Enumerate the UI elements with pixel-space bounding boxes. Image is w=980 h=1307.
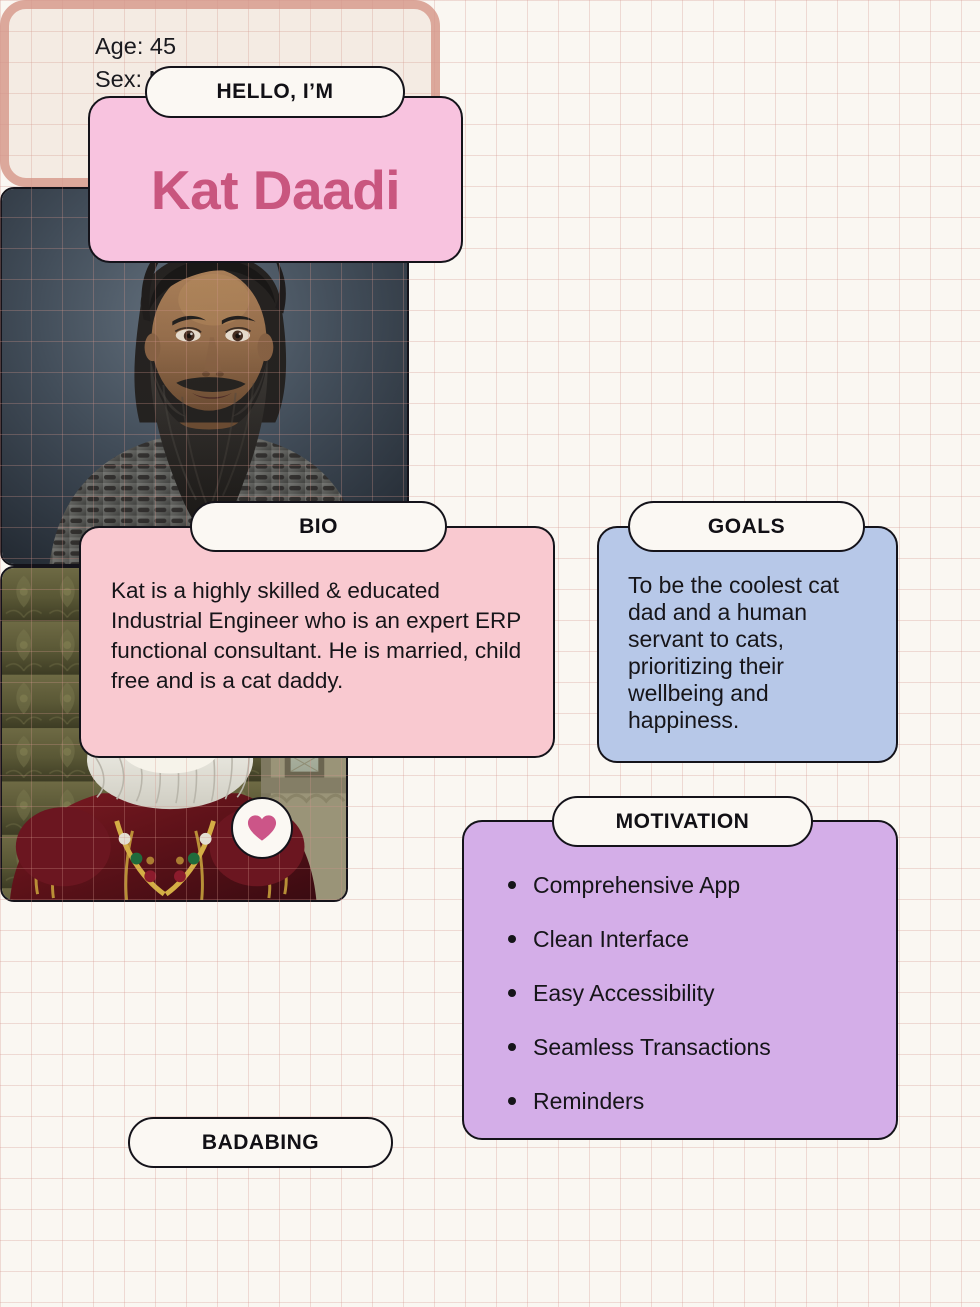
persona-page: Kat Daadi HELLO, I’M Age: 45 Sex: Male O…	[0, 0, 980, 1307]
name-banner-card: Kat Daadi	[88, 96, 463, 263]
badabing-label-pill: BADABING	[128, 1117, 393, 1168]
goals-card: To be the coolest cat dad and a human se…	[597, 526, 898, 763]
bio-card: Kat is a highly skilled & educated Indus…	[79, 526, 555, 758]
bio-text: Kat is a highly skilled & educated Indus…	[81, 528, 553, 696]
hello-label-pill: HELLO, I’M	[145, 66, 405, 118]
motivation-card: Comprehensive App Clean Interface Easy A…	[462, 820, 898, 1140]
list-item: Reminders	[508, 1088, 896, 1114]
badabing-label-text: BADABING	[202, 1131, 319, 1155]
hello-label-text: HELLO, I’M	[217, 80, 334, 104]
motivation-label-text: MOTIVATION	[616, 810, 750, 834]
bio-label-pill: BIO	[190, 501, 447, 552]
goals-label-text: GOALS	[708, 515, 785, 539]
goals-label-pill: GOALS	[628, 501, 865, 552]
info-line-age: Age: 45	[95, 30, 431, 63]
motivation-list: Comprehensive App Clean Interface Easy A…	[464, 822, 896, 1114]
list-item: Clean Interface	[508, 926, 896, 952]
goals-text: To be the coolest cat dad and a human se…	[599, 528, 896, 734]
heart-badge	[231, 797, 293, 859]
list-item: Seamless Transactions	[508, 1034, 896, 1060]
bio-label-text: BIO	[299, 515, 338, 539]
persona-name: Kat Daadi	[151, 141, 400, 218]
heart-icon	[247, 814, 277, 842]
list-item: Easy Accessibility	[508, 980, 896, 1006]
motivation-label-pill: MOTIVATION	[552, 796, 813, 847]
list-item: Comprehensive App	[508, 872, 896, 898]
